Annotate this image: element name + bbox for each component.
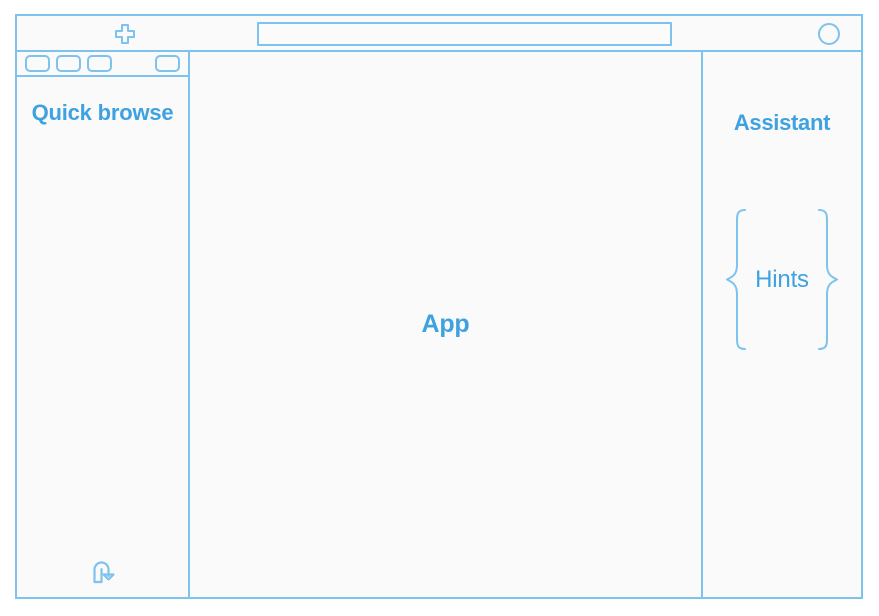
sidebar-toolbar-button-1[interactable]	[25, 55, 50, 72]
u-turn-arrow-icon[interactable]	[88, 557, 118, 585]
left-brace-icon	[723, 207, 751, 352]
hints-label: Hints	[751, 266, 813, 294]
app-content-area: App	[190, 52, 703, 597]
assistant-panel: Assistant Hints	[703, 52, 861, 597]
browser-top-bar	[17, 16, 861, 52]
quick-browse-sidebar: Quick browse	[17, 52, 190, 597]
app-label: App	[422, 310, 470, 339]
assistant-title: Assistant	[703, 52, 861, 136]
sidebar-toolbar	[17, 52, 188, 77]
browser-wireframe-frame: Quick browse App Assi	[15, 14, 863, 599]
address-bar-input[interactable]	[257, 22, 672, 46]
sidebar-toolbar-button-4[interactable]	[155, 55, 180, 72]
new-tab-button[interactable]	[113, 23, 137, 45]
main-body-row: Quick browse App Assi	[17, 52, 861, 597]
circle-avatar-icon[interactable]	[818, 23, 840, 45]
sidebar-content: Quick browse	[17, 77, 188, 597]
sidebar-title: Quick browse	[17, 77, 188, 127]
sidebar-toolbar-button-2[interactable]	[56, 55, 81, 72]
hints-block: Hints	[703, 207, 861, 352]
plus-icon	[113, 23, 137, 45]
sidebar-footer	[17, 557, 188, 585]
right-brace-icon	[813, 207, 841, 352]
sidebar-toolbar-button-3[interactable]	[87, 55, 112, 72]
